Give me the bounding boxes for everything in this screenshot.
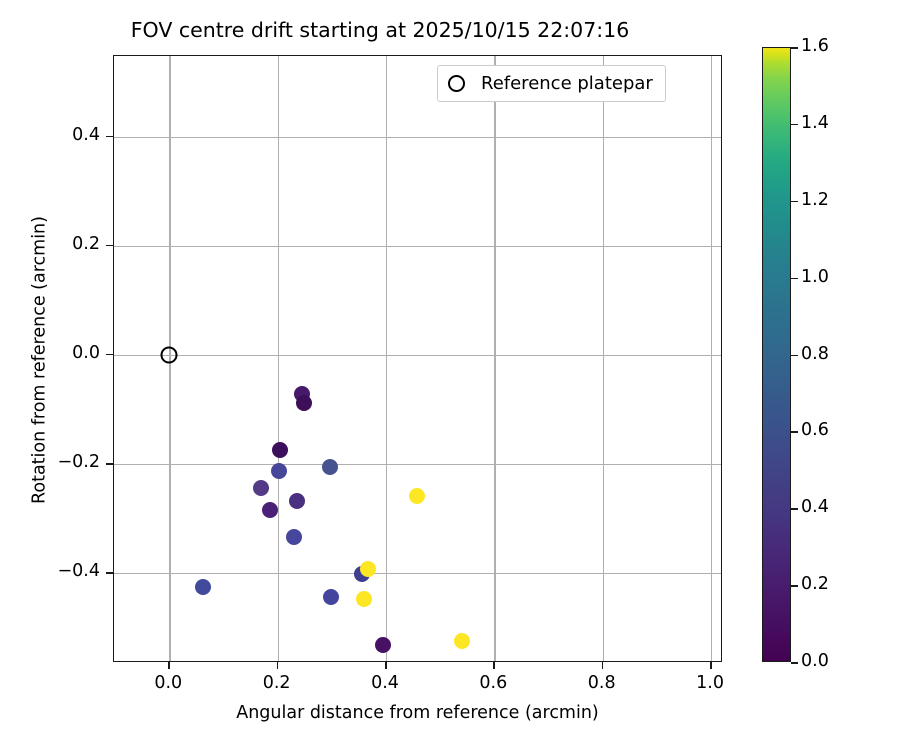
data-point[interactable]: [322, 459, 338, 475]
data-point[interactable]: [272, 442, 288, 458]
reference-platepar-point[interactable]: [161, 346, 178, 363]
x-axis-tick-label: 0.8: [562, 673, 642, 693]
y-axis-tick: [106, 572, 113, 574]
page-title: FOV centre drift starting at 2025/10/15 …: [0, 18, 760, 42]
y-axis-tick: [106, 245, 113, 247]
x-axis-label: Angular distance from reference (arcmin): [113, 703, 722, 723]
reference-platepar-marker-icon: [448, 75, 465, 92]
data-point[interactable]: [195, 579, 211, 595]
gridline-horizontal: [114, 573, 721, 574]
gridline-horizontal: [114, 355, 721, 356]
data-point[interactable]: [323, 589, 339, 605]
colorbar-tick: [791, 124, 798, 126]
data-point[interactable]: [262, 502, 278, 518]
data-point[interactable]: [409, 488, 425, 504]
gridline-horizontal: [114, 464, 721, 465]
colorbar[interactable]: [762, 47, 791, 662]
y-axis-label: Rotation from reference (arcmin): [30, 57, 50, 664]
colorbar-tick-label: 1.4: [801, 113, 829, 133]
colorbar-tick: [791, 355, 798, 357]
data-point[interactable]: [253, 480, 269, 496]
x-axis-tick: [277, 662, 279, 669]
plot-area[interactable]: [113, 55, 722, 662]
colorbar-tick: [791, 278, 798, 280]
data-point[interactable]: [289, 493, 305, 509]
data-point[interactable]: [296, 395, 312, 411]
x-axis-tick: [168, 662, 170, 669]
colorbar-tick-label: 0.0: [801, 651, 829, 671]
x-axis-tick: [493, 662, 495, 669]
colorbar-gradient: [762, 47, 791, 662]
x-axis-tick: [710, 662, 712, 669]
colorbar-tick: [791, 431, 798, 433]
colorbar-tick: [791, 201, 798, 203]
y-axis-tick: [106, 136, 113, 138]
colorbar-tick-label: 1.2: [801, 190, 829, 210]
legend-item-label: Reference platepar: [481, 73, 653, 94]
data-point[interactable]: [360, 561, 376, 577]
x-axis-tick-label: 0.6: [453, 673, 533, 693]
colorbar-tick-label: 1.0: [801, 267, 829, 287]
y-axis-tick: [106, 354, 113, 356]
x-axis-tick-label: 1.0: [670, 673, 750, 693]
y-axis-tick: [106, 463, 113, 465]
x-axis-tick-label: 0.0: [128, 673, 208, 693]
figure-canvas: FOV centre drift starting at 2025/10/15 …: [0, 0, 900, 750]
colorbar-tick-label: 0.2: [801, 574, 829, 594]
gridline-horizontal: [114, 137, 721, 138]
data-point[interactable]: [356, 591, 372, 607]
data-point[interactable]: [454, 633, 470, 649]
x-axis-tick-label: 0.4: [345, 673, 425, 693]
colorbar-tick-label: 1.6: [801, 36, 829, 56]
gridline-vertical: [278, 56, 279, 661]
gridline-vertical: [386, 56, 387, 661]
colorbar-tick: [791, 508, 798, 510]
colorbar-tick: [791, 585, 798, 587]
gridline-vertical: [603, 56, 604, 661]
colorbar-tick: [791, 662, 798, 664]
data-point[interactable]: [286, 529, 302, 545]
gridline-horizontal: [114, 246, 721, 247]
x-axis-tick: [385, 662, 387, 669]
colorbar-tick-label: 0.8: [801, 344, 829, 364]
plot-inner: [114, 56, 721, 661]
data-point[interactable]: [271, 463, 287, 479]
gridline-vertical: [711, 56, 712, 661]
gridline-vertical: [494, 56, 495, 661]
x-axis-tick: [602, 662, 604, 669]
x-axis-tick-label: 0.2: [237, 673, 317, 693]
colorbar-tick-label: 0.4: [801, 497, 829, 517]
colorbar-tick: [791, 47, 798, 49]
data-point[interactable]: [375, 637, 391, 653]
legend: Reference platepar: [437, 65, 666, 102]
colorbar-tick-label: 0.6: [801, 420, 829, 440]
